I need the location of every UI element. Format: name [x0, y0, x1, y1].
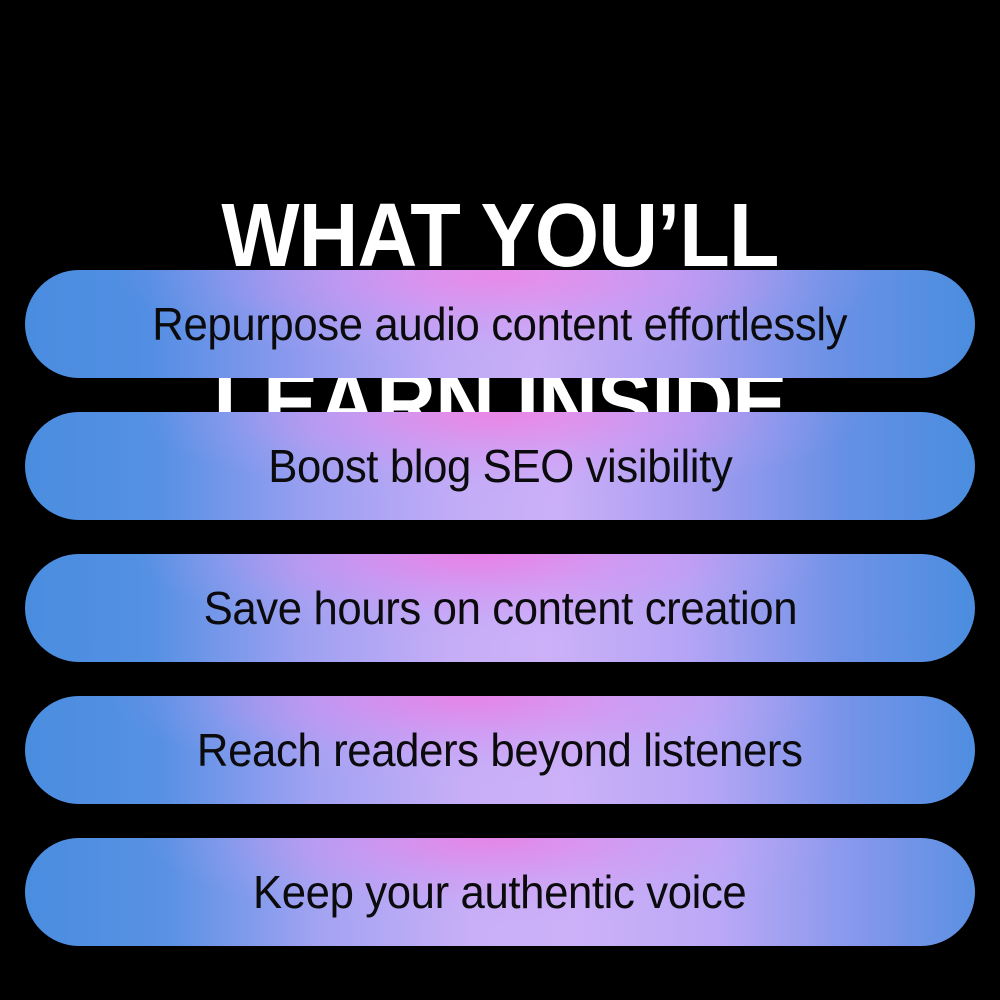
benefit-pill-4[interactable]: Reach readers beyond listeners [25, 696, 975, 804]
benefit-pill-5[interactable]: Keep your authentic voice [25, 838, 975, 946]
benefit-pill-3-label: Save hours on content creation [203, 585, 797, 631]
benefit-pill-2[interactable]: Boost blog SEO visibility [25, 412, 975, 520]
benefit-pill-1-label: Repurpose audio content effortlessly [153, 301, 848, 347]
benefit-pill-2-label: Boost blog SEO visibility [268, 443, 732, 489]
benefit-pill-1[interactable]: Repurpose audio content effortlessly [25, 270, 975, 378]
page-title-line-1: WHAT YOU’LL [40, 194, 960, 278]
benefit-pill-list: Repurpose audio content effortlessly Boo… [25, 270, 975, 946]
benefit-pill-5-label: Keep your authentic voice [253, 869, 746, 915]
benefit-pill-3[interactable]: Save hours on content creation [25, 554, 975, 662]
slide-canvas: WHAT YOU’LL LEARN INSIDE Repurpose audio… [0, 0, 1000, 1000]
benefit-pill-4-label: Reach readers beyond listeners [197, 727, 803, 773]
